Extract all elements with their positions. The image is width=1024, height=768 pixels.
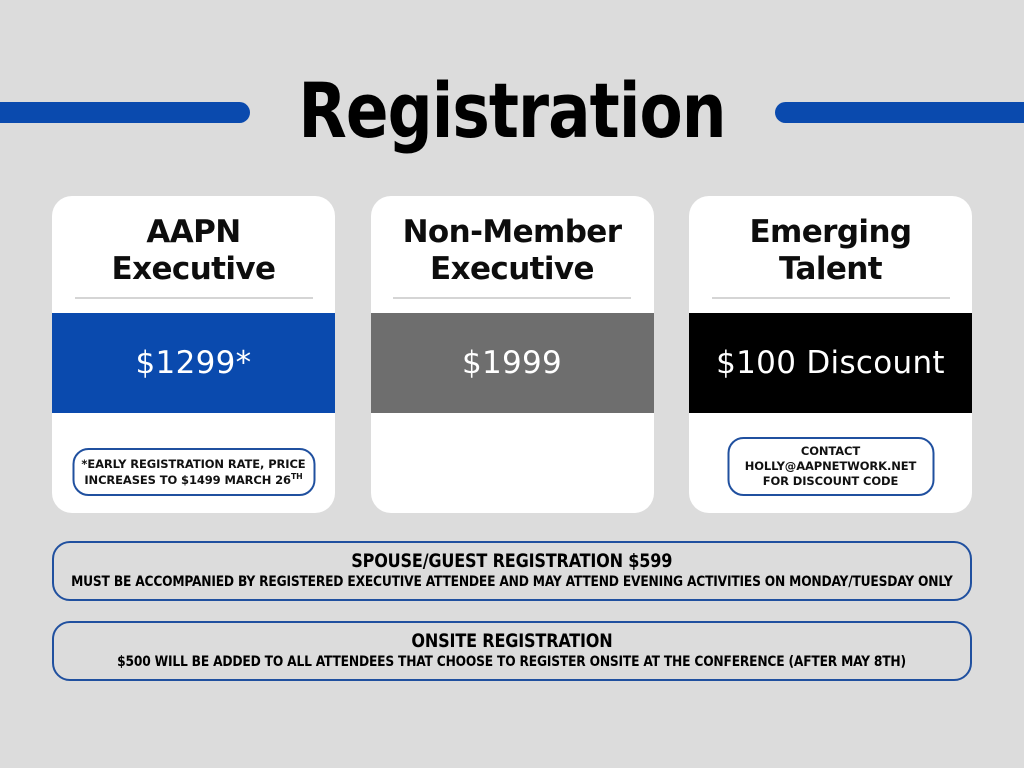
pricing-card-aapn-executive[interactable]: AAPN Executive $1299* *EARLY REGISTRATIO…: [52, 196, 335, 513]
pricing-card-emerging-talent[interactable]: Emerging Talent $100 Discount CONTACT HO…: [689, 196, 972, 513]
card-note-box: CONTACT HOLLY@AAPNETWORK.NET FOR DISCOUN…: [727, 437, 934, 496]
card-title: Emerging Talent: [689, 214, 972, 288]
banner-subtext: $500 WILL BE ADDED TO ALL ATTENDEES THAT…: [118, 653, 907, 672]
card-note-box: *EARLY REGISTRATION RATE, PRICE INCREASE…: [72, 448, 315, 496]
pricing-card-non-member-executive[interactable]: Non-Member Executive $1999: [371, 196, 654, 513]
page-title: Registration: [41, 68, 983, 154]
page-header: Registration: [0, 0, 1024, 190]
card-note-line-2: INCREASES TO $1499 MARCH 26TH: [84, 472, 302, 488]
card-note-line-1: *EARLY REGISTRATION RATE, PRICE: [81, 456, 305, 472]
pricing-card-list: AAPN Executive $1299* *EARLY REGISTRATIO…: [52, 196, 972, 513]
price-band: $1999: [371, 313, 654, 413]
card-note-line-1: CONTACT: [801, 444, 860, 459]
card-note-line-2: HOLLY@AAPNETWORK.NET: [745, 459, 917, 474]
price-value: $1999: [462, 345, 562, 381]
card-note-line-3: FOR DISCOUNT CODE: [763, 474, 899, 489]
banner-subtext: MUST BE ACCOMPANIED BY REGISTERED EXECUT…: [71, 573, 952, 592]
banner-heading: ONSITE REGISTRATION: [411, 630, 612, 653]
card-divider: [393, 297, 631, 299]
card-title: AAPN Executive: [52, 214, 335, 288]
ordinal-suffix: TH: [291, 472, 303, 481]
price-value: $100 Discount: [716, 345, 945, 381]
banner-heading: SPOUSE/GUEST REGISTRATION $599: [351, 550, 672, 573]
card-note-line-2-text: INCREASES TO $1499 MARCH 26: [84, 473, 291, 487]
price-band: $100 Discount: [689, 313, 972, 413]
price-value: $1299*: [136, 345, 252, 381]
card-divider: [712, 297, 950, 299]
card-title: Non-Member Executive: [371, 214, 654, 288]
banner-spouse-guest-registration: SPOUSE/GUEST REGISTRATION $599 MUST BE A…: [52, 541, 972, 601]
banner-onsite-registration: ONSITE REGISTRATION $500 WILL BE ADDED T…: [52, 621, 972, 681]
card-divider: [75, 297, 313, 299]
price-band: $1299*: [52, 313, 335, 413]
